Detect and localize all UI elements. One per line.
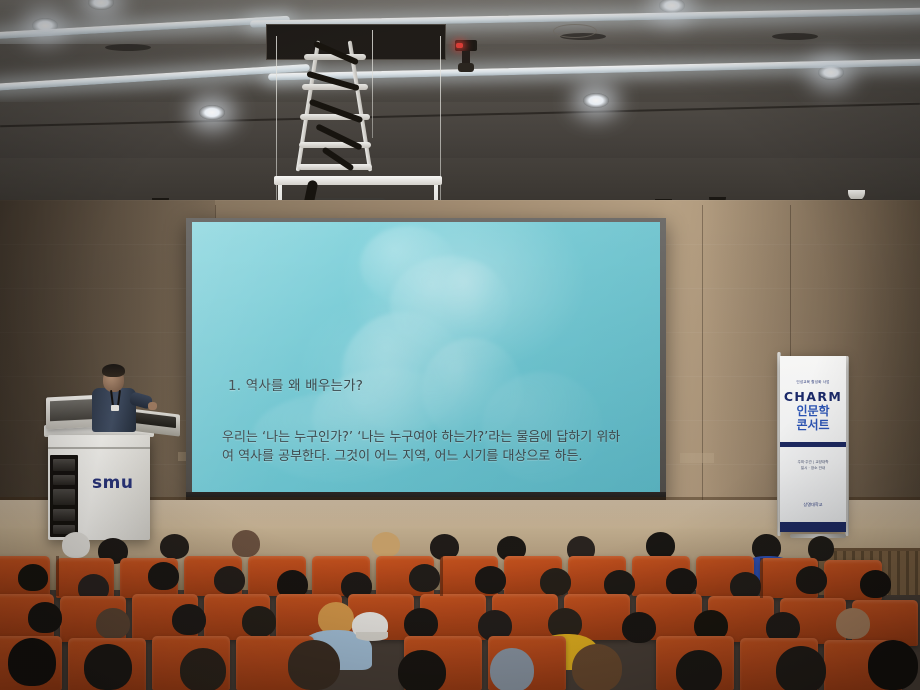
audience-head <box>288 640 340 690</box>
seat-divider <box>760 558 763 598</box>
projection-screen: 1. 역사를 왜 배우는가? 우리는 ‘나는 누구인가?’ ‘나는 누구여야 하… <box>186 218 666 506</box>
recessed-downlight <box>32 18 58 33</box>
lift-wire <box>372 30 373 138</box>
audience-head <box>776 646 826 690</box>
speaker-presenter <box>82 362 162 432</box>
banner-header-line: 인성교육 활성화 사업 <box>784 380 842 385</box>
alarm-led-icon <box>456 43 463 48</box>
audience-head <box>148 562 179 590</box>
wall-sign <box>680 453 714 463</box>
audience-head <box>666 568 697 596</box>
banner-title-en: CHARM <box>780 389 846 404</box>
speaker-hand <box>148 402 157 410</box>
lift-wire <box>276 36 277 221</box>
ceiling-band-lower <box>0 102 920 162</box>
audience-head <box>646 532 675 559</box>
audience-head <box>475 566 506 594</box>
banner-title-kr-2: 콘서트 <box>780 419 846 433</box>
seat-divider <box>56 556 59 596</box>
banner-footer-1: 주최·주관 | 교양대학 <box>784 460 842 465</box>
audience-head <box>404 608 438 639</box>
recessed-downlight <box>818 65 844 80</box>
audience-head <box>160 534 189 559</box>
lift-wire <box>440 36 441 221</box>
audience-area <box>0 520 920 690</box>
audience-head <box>860 570 891 598</box>
podium-logo: smu <box>92 473 133 493</box>
audience-head <box>622 612 656 643</box>
audience-head <box>84 644 132 690</box>
audience-head <box>232 530 260 557</box>
audience-head <box>180 648 226 690</box>
recessed-downlight <box>583 93 609 108</box>
ceiling-hatch <box>553 24 597 38</box>
podium-front-edge <box>48 447 150 449</box>
projector-platform-upper <box>274 176 442 185</box>
banner-title-kr-1: 인문학 <box>780 405 846 419</box>
audience-cap-brim <box>356 632 388 641</box>
audience-head <box>28 602 62 633</box>
audience-head <box>540 568 571 596</box>
audience-head <box>242 606 276 637</box>
ceiling-vent <box>772 33 818 40</box>
audience-head <box>18 564 48 591</box>
screen-glare <box>192 222 660 492</box>
event-banner: 인성교육 활성화 사업 CHARM 인문학 콘서트 주최·주관 | 교양대학 일… <box>780 356 846 532</box>
banner-footer-2: 일시 · 장소 안내 <box>784 466 842 471</box>
audience-head <box>796 566 827 594</box>
audience-head <box>62 532 90 558</box>
audience-head <box>572 644 622 690</box>
audience-head <box>398 650 446 690</box>
auditorium-photo: 1. 역사를 왜 배우는가? 우리는 ‘나는 누구인가?’ ‘나는 누구여야 하… <box>0 0 920 690</box>
recessed-downlight <box>199 105 225 120</box>
audience-head <box>676 650 722 690</box>
speaker-hair <box>102 364 125 377</box>
audience-head <box>96 608 130 639</box>
ceiling-vent <box>105 44 151 51</box>
seat-divider <box>440 556 443 596</box>
speaker-badge <box>111 405 119 411</box>
audience-head <box>372 532 400 557</box>
audience-head <box>836 608 870 639</box>
audience-head <box>868 640 918 690</box>
audience-head <box>409 564 440 592</box>
audience-head <box>214 566 245 594</box>
audience-head <box>490 648 534 690</box>
banner-university-logo: 상명대학교 <box>784 502 842 508</box>
banner-color-band <box>780 442 846 447</box>
audience-head <box>172 604 206 635</box>
audience-head <box>8 638 56 686</box>
